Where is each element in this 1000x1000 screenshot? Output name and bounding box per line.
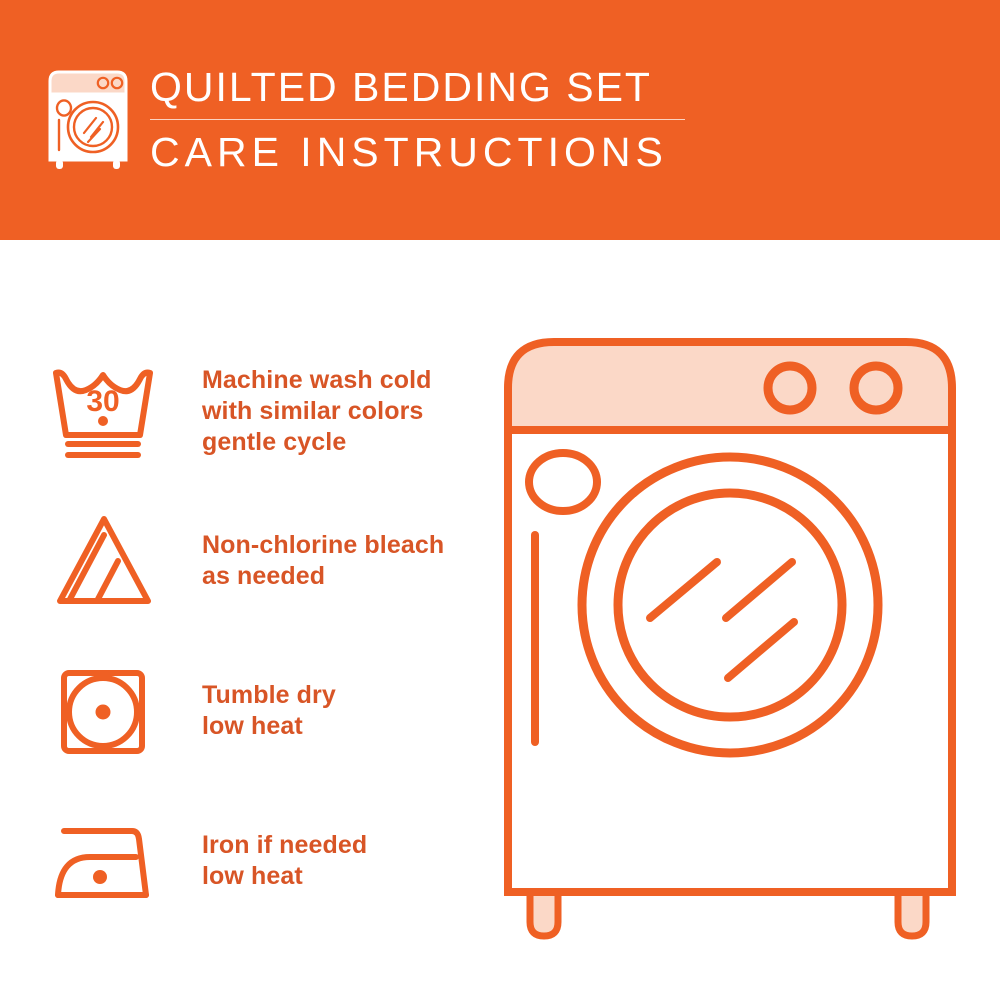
page-subtitle: CARE INSTRUCTIONS [150,129,685,175]
care-line: Tumble dry [202,680,336,711]
care-row-tumble-dry: Tumble dry low heat [48,636,488,786]
care-line: gentle cycle [202,427,432,458]
care-line: low heat [202,711,336,742]
care-line: Iron if needed [202,830,367,861]
front-load-washing-machine-illustration [490,330,970,950]
care-text-tumble-dry: Tumble dry low heat [202,680,336,742]
wash-tub-30-gentle-icon: 30 [48,358,164,464]
care-row-bleach: Non-chlorine bleach as needed [48,486,488,636]
care-line: Machine wash cold [202,365,432,396]
care-text-bleach: Non-chlorine bleach as needed [202,530,444,592]
wash-temperature-label: 30 [86,385,119,418]
care-line: as needed [202,561,444,592]
header-banner: QUILTED BEDDING SET CARE INSTRUCTIONS [0,0,1000,240]
foot-right [898,890,926,936]
care-text-machine-wash: Machine wash cold with similar colors ge… [202,365,432,458]
care-instructions-list: 30 Machine wash cold with similar colors… [48,336,488,936]
foot-left [530,890,558,936]
washing-machine-icon [44,67,132,171]
page-title: QUILTED BEDDING SET [150,64,685,110]
control-panel [508,342,952,430]
non-chlorine-bleach-triangle-icon [48,508,164,614]
care-line: Non-chlorine bleach [202,530,444,561]
care-row-iron: Iron if needed low heat [48,786,488,936]
header-title-group: QUILTED BEDDING SET CARE INSTRUCTIONS [150,62,685,175]
care-line: low heat [202,861,367,892]
header-content: QUILTED BEDDING SET CARE INSTRUCTIONS [44,62,685,175]
iron-low-heat-icon [48,808,164,914]
care-row-machine-wash: 30 Machine wash cold with similar colors… [48,336,488,486]
care-line: with similar colors [202,396,432,427]
care-text-iron: Iron if needed low heat [202,830,367,892]
title-divider [150,119,685,120]
tumble-dry-low-heat-icon [48,658,164,764]
